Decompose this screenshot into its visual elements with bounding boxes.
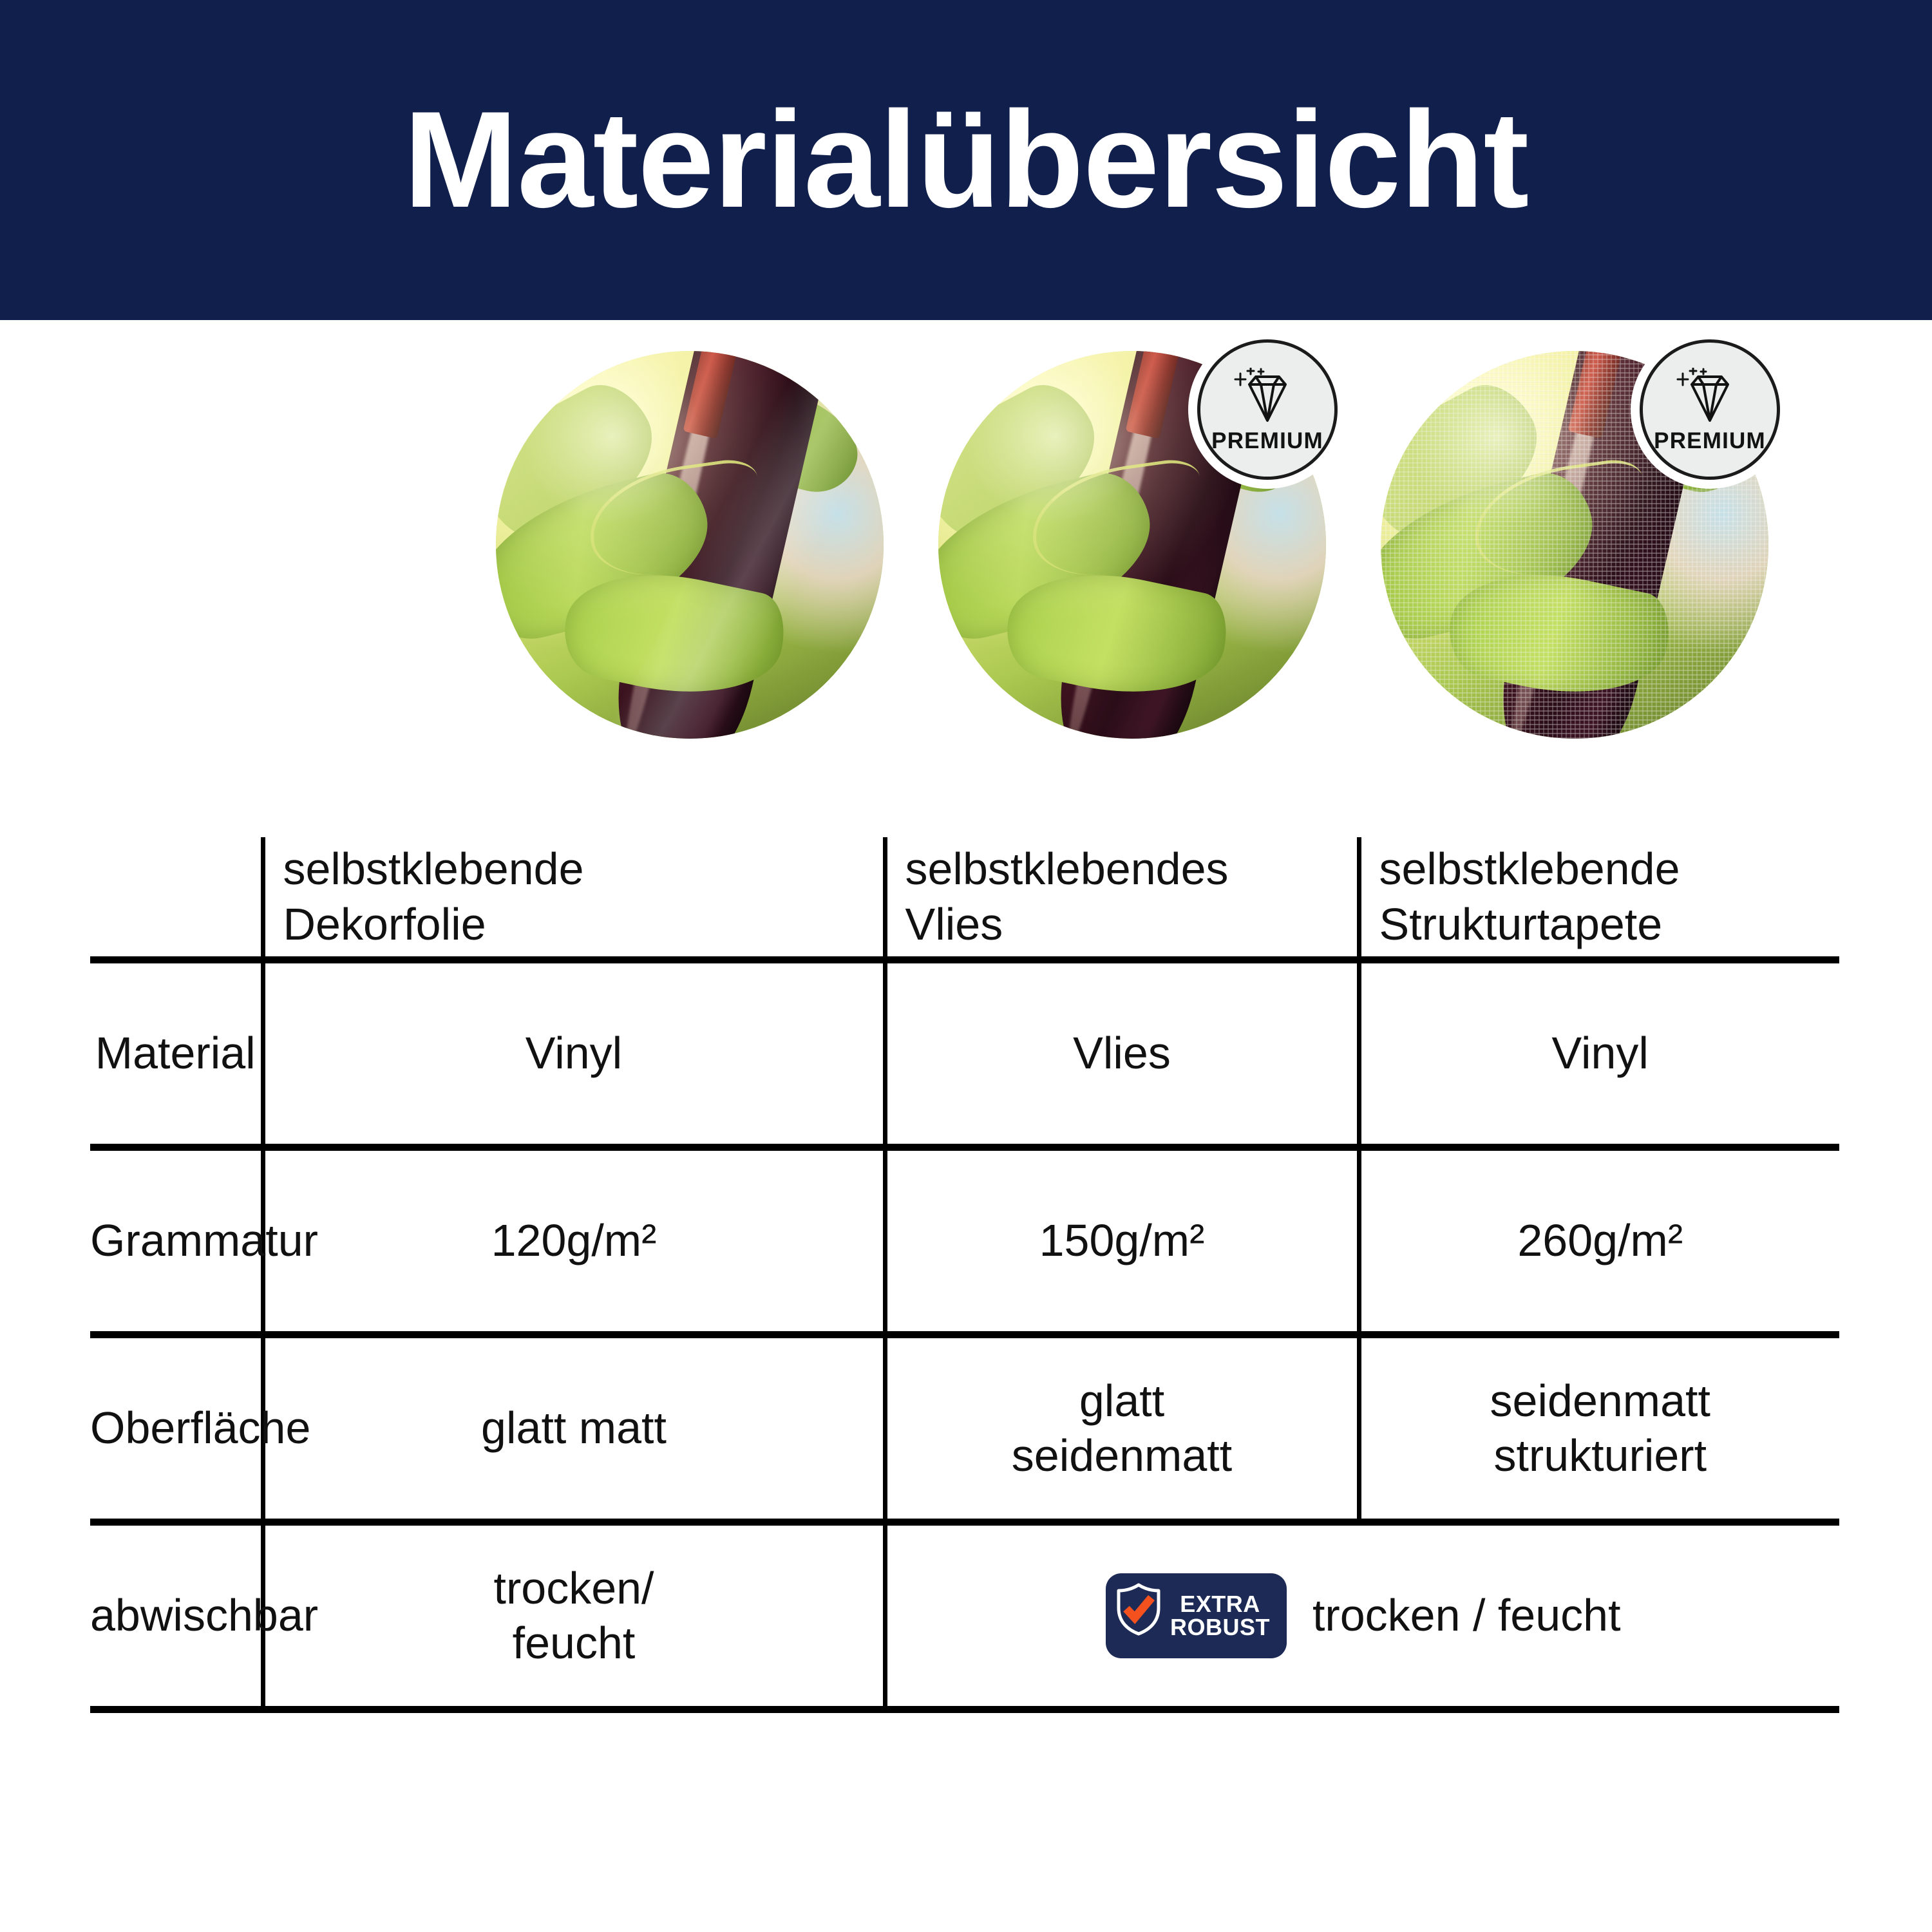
extra-robust-line1: EXTRA <box>1170 1593 1270 1616</box>
column-header-line1: selbstklebende <box>1379 842 1840 896</box>
column-header-line2: Strukturtapete <box>1379 897 1840 952</box>
row-label-oberflaeche: Oberfläche <box>90 1335 263 1522</box>
cell-grammatur-dekorfolie: 120g/m² <box>263 1148 885 1335</box>
cell-oberflaeche-vlies: glatt seidenmatt <box>885 1335 1359 1522</box>
extra-robust-line2: ROBUST <box>1170 1616 1270 1639</box>
cell-grammatur-strukturtapete: 260g/m² <box>1359 1148 1839 1335</box>
cell-line2: seidenmatt <box>887 1428 1357 1483</box>
cell-oberflaeche-dekorfolie: glatt matt <box>263 1335 885 1522</box>
cell-abwischbar-merged-value: trocken / feucht <box>1312 1588 1621 1643</box>
column-header-line2: Dekorfolie <box>283 897 883 952</box>
cell-line1: glatt <box>887 1374 1357 1428</box>
cell-abwischbar-vlies-strukturtapete: EXTRA ROBUST trocken / feucht <box>885 1522 1839 1710</box>
diamond-icon <box>1233 368 1302 427</box>
material-sample-dekorfolie[interactable] <box>496 351 884 739</box>
cell-material-vlies: Vlies <box>885 960 1359 1148</box>
page-header: Materialübersicht <box>0 0 1932 320</box>
row-label-material: Material <box>90 960 263 1148</box>
row-label-abwischbar: abwischbar <box>90 1522 263 1710</box>
column-header-vlies: selbstklebendes Vlies <box>885 837 1359 960</box>
cell-abwischbar-dekorfolie: trocken/ feucht <box>263 1522 885 1710</box>
table-row: Oberfläche glatt matt glatt seidenmatt s… <box>90 1335 1839 1522</box>
material-spec-table-area: selbstklebende Dekorfolie selbstklebende… <box>0 837 1932 1868</box>
column-header-dekorfolie: selbstklebende Dekorfolie <box>263 837 885 960</box>
cell-material-dekorfolie: Vinyl <box>263 960 885 1148</box>
column-header-line1: selbstklebendes <box>905 842 1357 896</box>
premium-badge: PREMIUM <box>1640 339 1780 480</box>
cell-line2: strukturiert <box>1361 1428 1840 1483</box>
cell-line2: feucht <box>265 1616 883 1671</box>
diamond-icon <box>1675 368 1745 427</box>
premium-badge-label: PREMIUM <box>1654 430 1766 452</box>
premium-badge-label: PREMIUM <box>1211 430 1323 452</box>
cell-line1: seidenmatt <box>1361 1374 1840 1428</box>
row-label-grammatur: Grammatur <box>90 1148 263 1335</box>
sample-photo-dekorfolie <box>496 351 884 739</box>
material-sample-strukturtapete[interactable]: PREMIUM <box>1381 351 1768 739</box>
table-header-row: selbstklebende Dekorfolie selbstklebende… <box>90 837 1839 960</box>
cell-line1: trocken/ <box>265 1561 883 1616</box>
column-header-line2: Vlies <box>905 897 1357 952</box>
page-title: Materialübersicht <box>404 91 1529 229</box>
cell-material-strukturtapete: Vinyl <box>1359 960 1839 1148</box>
table-row: Material Vinyl Vlies Vinyl <box>90 960 1839 1148</box>
premium-badge: PREMIUM <box>1197 339 1338 480</box>
material-sample-vlies[interactable]: PREMIUM <box>938 351 1326 739</box>
material-spec-table: selbstklebende Dekorfolie selbstklebende… <box>90 837 1839 1713</box>
cell-oberflaeche-strukturtapete: seidenmatt strukturiert <box>1359 1335 1839 1522</box>
shield-check-icon <box>1115 1582 1162 1649</box>
table-row: abwischbar trocken/ feucht <box>90 1522 1839 1710</box>
material-sample-strip: PREMIUM <box>0 348 1932 760</box>
table-corner-cell <box>90 837 263 960</box>
extra-robust-badge: EXTRA ROBUST <box>1106 1573 1287 1658</box>
cell-grammatur-vlies: 150g/m² <box>885 1148 1359 1335</box>
column-header-strukturtapete: selbstklebende Strukturtapete <box>1359 837 1839 960</box>
table-row: Grammatur 120g/m² 150g/m² 260g/m² <box>90 1148 1839 1335</box>
cell-line1: glatt matt <box>265 1401 883 1455</box>
column-header-line1: selbstklebende <box>283 842 883 896</box>
